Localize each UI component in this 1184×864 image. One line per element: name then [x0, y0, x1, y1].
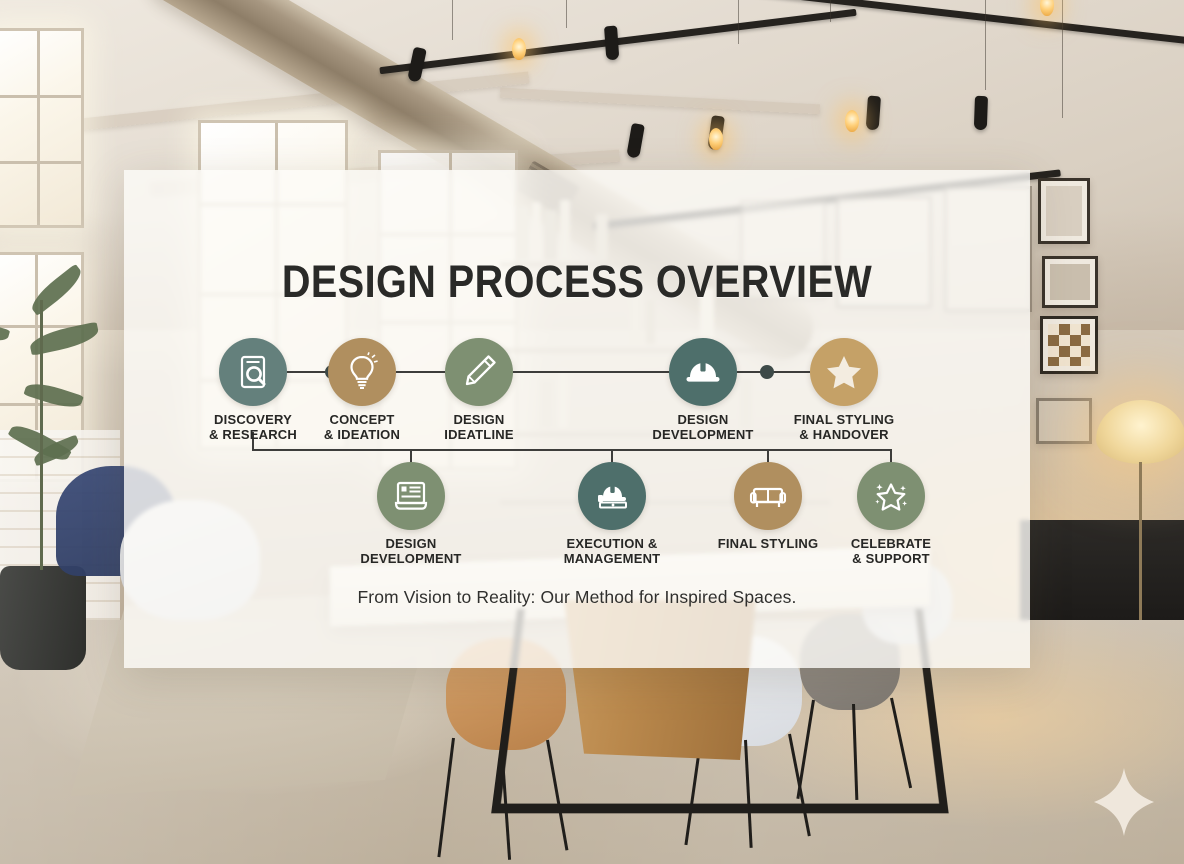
sideboard [1020, 520, 1184, 620]
hardhat-icon [682, 351, 724, 393]
light-bulb [512, 38, 526, 60]
wall-art-frame [1038, 178, 1090, 244]
sofa-icon [747, 475, 789, 517]
lightbulb-icon [342, 352, 382, 392]
spotlight-fixture [866, 96, 881, 131]
step-icon-circle [578, 462, 646, 530]
blueprint-icon [390, 475, 432, 517]
step-icon-circle [810, 338, 878, 406]
step-icon-circle [734, 462, 802, 530]
floor-lamp-stem [1139, 462, 1142, 642]
wall-art-frame [1042, 256, 1098, 308]
step-icon-circle [857, 462, 925, 530]
sparkle-star-icon [870, 475, 912, 517]
spotlight-fixture [974, 96, 988, 130]
connector-dot [760, 365, 774, 379]
page-subtitle: From Vision to Reality: Our Method for I… [124, 587, 1030, 608]
step-icon-circle [328, 338, 396, 406]
planter-pot [0, 566, 86, 670]
window-upper-left [0, 28, 84, 228]
step-label: EXECUTION & MANAGEMENT [522, 536, 702, 566]
content-panel: DESIGN PROCESS OVERVIEW [124, 170, 1030, 668]
light-bulb [709, 128, 723, 150]
step-label: FINAL STYLING & HANDOVER [754, 412, 934, 442]
document-magnifier-icon [233, 352, 273, 392]
wall-art-frame [1036, 398, 1092, 444]
pencil-icon [459, 352, 499, 392]
step-label: CELEBRATE & SUPPORT [801, 536, 981, 566]
step-icon-circle [445, 338, 513, 406]
step-label: DESIGN DEVELOPMENT [321, 536, 501, 566]
step-icon-circle [219, 338, 287, 406]
hardhat-level-icon [591, 475, 633, 517]
step-label: DESIGN IDEATLINE [389, 412, 569, 442]
star-icon [823, 351, 865, 393]
sparkle-logo [1092, 766, 1156, 838]
slide-canvas: DESIGN PROCESS OVERVIEW [0, 0, 1184, 864]
spotlight-fixture [604, 26, 619, 61]
light-bulb [845, 110, 859, 132]
step-icon-circle [377, 462, 445, 530]
wall-art-frame-checker [1040, 316, 1098, 374]
plant-stem [40, 300, 43, 570]
step-icon-circle [669, 338, 737, 406]
